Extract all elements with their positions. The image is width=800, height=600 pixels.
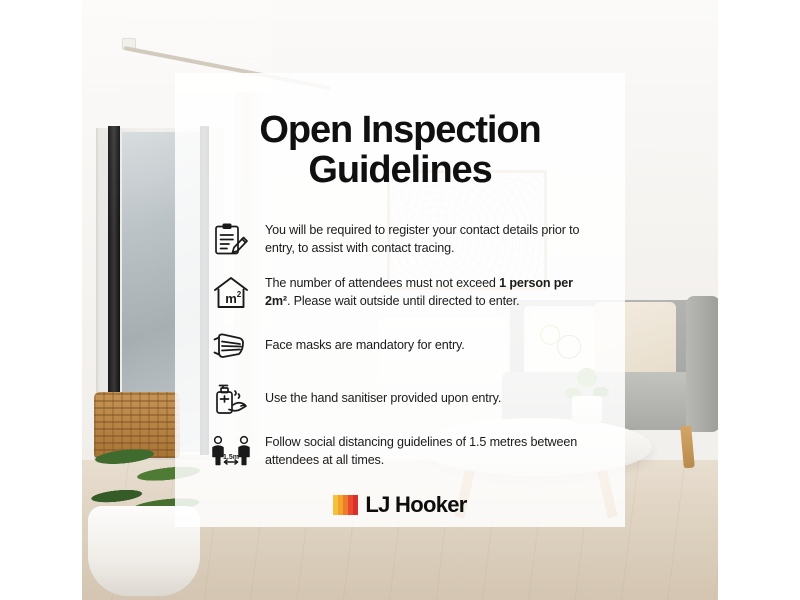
lj-hooker-bars-icon xyxy=(333,495,358,515)
list-item: Face masks are mandatory for entry. xyxy=(209,326,591,366)
list-item-text: Use the hand sanitiser provided upon ent… xyxy=(265,390,501,408)
poster-canvas: Open Inspection Guidelines xyxy=(0,0,800,600)
guidelines-card: Open Inspection Guidelines xyxy=(175,73,625,527)
text-segment-before: The number of attendees must not exceed xyxy=(265,276,499,290)
guidelines-list: You will be required to register your co… xyxy=(209,220,591,472)
list-item: You will be required to register your co… xyxy=(209,220,591,260)
list-item: 1.5m Follow social distancing guidelines… xyxy=(209,432,591,472)
list-item-text: You will be required to register your co… xyxy=(265,222,591,258)
bar-5 xyxy=(353,495,358,515)
house-square-metre-icon: m 2 xyxy=(209,273,253,313)
svg-text:m: m xyxy=(225,291,237,306)
face-mask-icon xyxy=(209,326,253,366)
clipboard-pencil-icon xyxy=(209,220,253,260)
list-item: Use the hand sanitiser provided upon ent… xyxy=(209,379,591,419)
svg-text:1.5m: 1.5m xyxy=(223,454,239,461)
text-segment-after: . Please wait outside until directed to … xyxy=(287,294,520,308)
list-item-text: The number of attendees must not exceed … xyxy=(265,275,591,311)
hand-sanitiser-icon xyxy=(209,379,253,419)
brand-name: LJ Hooker xyxy=(365,492,466,518)
brand-logo: LJ Hooker xyxy=(209,492,591,518)
title-line-2: Guidelines xyxy=(209,151,591,191)
sofa-leg-right xyxy=(680,426,695,469)
sofa-armrest xyxy=(686,296,718,432)
page-title: Open Inspection Guidelines xyxy=(209,111,591,190)
list-item-text: Face masks are mandatory for entry. xyxy=(265,337,465,355)
svg-text:2: 2 xyxy=(237,290,242,299)
title-line-1: Open Inspection xyxy=(259,109,540,151)
list-item: m 2 The number of attendees must not exc… xyxy=(209,273,591,313)
list-item-text: Follow social distancing guidelines of 1… xyxy=(265,434,591,470)
social-distancing-icon: 1.5m xyxy=(209,432,253,472)
